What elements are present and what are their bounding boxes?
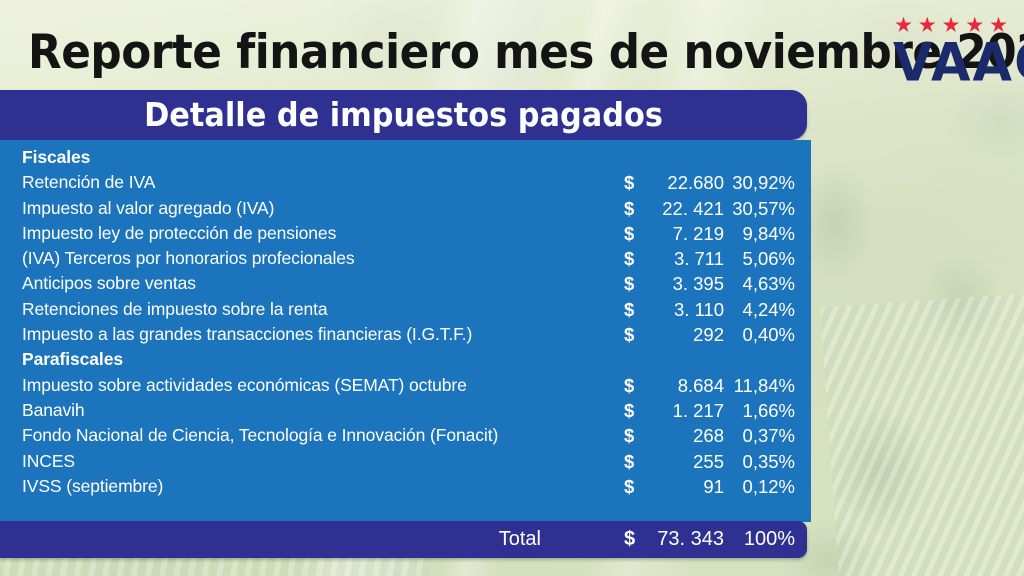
table-row: Banavih$1. 2171,66% bbox=[0, 398, 811, 423]
row-percentage: 1,66% bbox=[690, 398, 795, 423]
table-row: Anticipos sobre ventas$3. 3954,63% bbox=[0, 271, 811, 296]
row-label: (IVA) Terceros por honorarios profeciona… bbox=[22, 246, 355, 271]
row-label: IVSS (septiembre) bbox=[22, 474, 163, 499]
row-label: Impuesto ley de protección de pensiones bbox=[22, 221, 336, 246]
table-row: (IVA) Terceros por honorarios profeciona… bbox=[0, 246, 811, 271]
logo-wordmark: VAAC bbox=[893, 35, 1011, 90]
total-label: Total bbox=[499, 521, 541, 558]
row-percentage: 0,40% bbox=[690, 322, 795, 347]
row-percentage: 0,35% bbox=[690, 449, 795, 474]
row-percentage: 4,63% bbox=[690, 271, 795, 296]
row-label: Banavih bbox=[22, 398, 85, 423]
report-slide: Reporte financiero mes de noviembre 2025… bbox=[0, 0, 1024, 576]
row-label: Fondo Nacional de Ciencia, Tecnología e … bbox=[22, 423, 498, 448]
row-percentage: 5,06% bbox=[690, 246, 795, 271]
subtitle-text: Detalle de impuestos pagados bbox=[32, 94, 774, 136]
table-row: IVSS (septiembre)$910,12% bbox=[0, 474, 811, 499]
row-label: Anticipos sobre ventas bbox=[22, 271, 196, 296]
table-row: INCES$2550,35% bbox=[0, 449, 811, 474]
row-percentage: 0,37% bbox=[690, 423, 795, 448]
row-label: INCES bbox=[22, 449, 75, 474]
subtitle-banner: Detalle de impuestos pagados bbox=[0, 90, 807, 140]
row-label: Retenciones de impuesto sobre la renta bbox=[22, 297, 328, 322]
vaac-logo: VAAC bbox=[893, 16, 1009, 88]
row-label: Retención de IVA bbox=[22, 170, 155, 195]
table-row: Retención de IVA$22.68030,92% bbox=[0, 170, 811, 195]
table-section-header: Fiscales bbox=[0, 145, 811, 170]
row-percentage: 0,12% bbox=[690, 474, 795, 499]
total-bar: Total $ 73. 343 100% bbox=[0, 521, 807, 558]
row-percentage: 4,24% bbox=[690, 297, 795, 322]
table-row: Retenciones de impuesto sobre la renta$3… bbox=[0, 297, 811, 322]
row-percentage: 30,92% bbox=[690, 170, 795, 195]
row-label: Impuesto sobre actividades económicas (S… bbox=[22, 373, 467, 398]
tax-table: FiscalesRetención de IVA$22.68030,92%Imp… bbox=[0, 145, 811, 499]
table-row: Impuesto sobre actividades económicas (S… bbox=[0, 373, 811, 398]
table-section-header: Parafiscales bbox=[0, 347, 811, 372]
row-label: Impuesto a las grandes transacciones fin… bbox=[22, 322, 472, 347]
row-label: Impuesto al valor agregado (IVA) bbox=[22, 196, 274, 221]
section-label: Fiscales bbox=[22, 145, 90, 170]
table-row: Impuesto ley de protección de pensiones$… bbox=[0, 221, 811, 246]
section-label: Parafiscales bbox=[22, 347, 123, 372]
row-percentage: 30,57% bbox=[690, 196, 795, 221]
total-percentage: 100% bbox=[690, 521, 795, 558]
table-row: Impuesto al valor agregado (IVA)$22. 421… bbox=[0, 196, 811, 221]
row-percentage: 9,84% bbox=[690, 221, 795, 246]
row-percentage: 11,84% bbox=[690, 373, 795, 398]
page-title: Reporte financiero mes de noviembre 2025 bbox=[28, 24, 828, 82]
table-row: Impuesto a las grandes transacciones fin… bbox=[0, 322, 811, 347]
table-row: Fondo Nacional de Ciencia, Tecnología e … bbox=[0, 423, 811, 448]
